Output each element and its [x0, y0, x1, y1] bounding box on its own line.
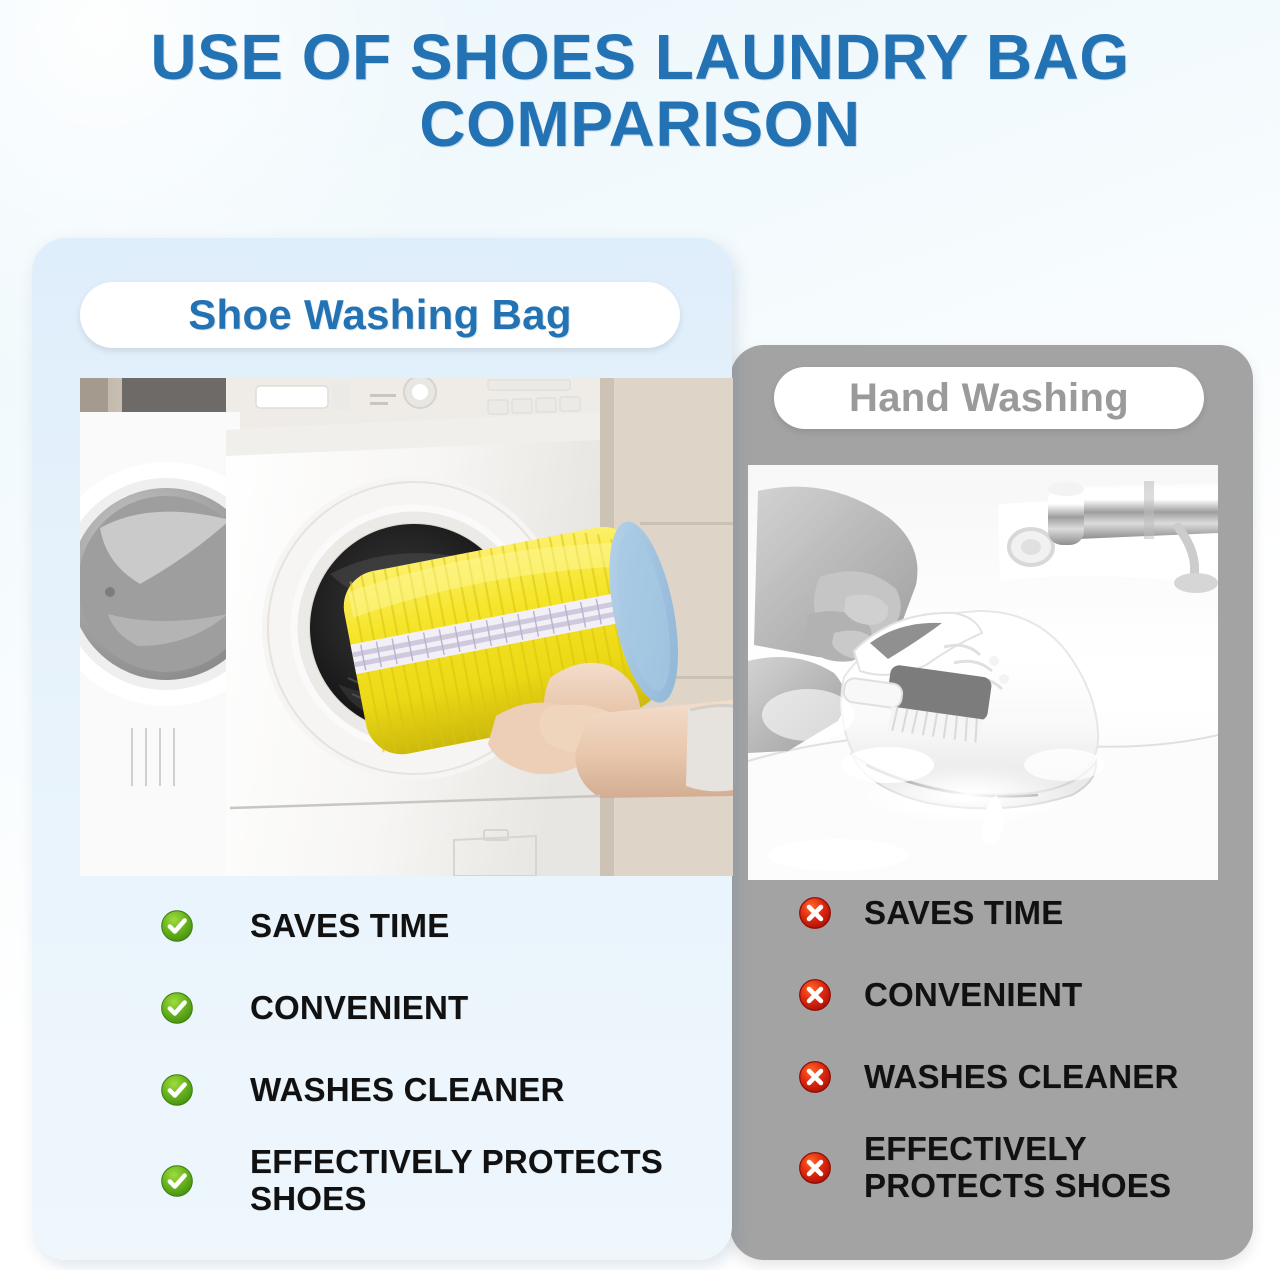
- panel-hand-washing: Hand Washing: [730, 345, 1253, 1260]
- list-item: CONVENIENT: [160, 980, 708, 1036]
- panel-title-shoe-washing-bag-label: Shoe Washing Bag: [188, 291, 572, 339]
- list-item-label: SAVES TIME: [250, 908, 449, 945]
- cross-icon: [798, 1060, 832, 1094]
- list-item: SAVES TIME: [798, 885, 1237, 941]
- page-title: USE OF SHOES LAUNDRY BAG COMPARISON: [0, 24, 1280, 158]
- list-item: WASHES CLEANER: [160, 1062, 708, 1118]
- infographic-canvas: USE OF SHOES LAUNDRY BAG COMPARISON: [0, 0, 1280, 1270]
- panel-title-shoe-washing-bag: Shoe Washing Bag: [80, 282, 680, 348]
- shoe-washing-bag-photo: [80, 378, 733, 876]
- cross-icon: [798, 896, 832, 930]
- check-icon: [160, 1073, 194, 1107]
- cross-icon: [798, 1151, 832, 1185]
- check-icon: [160, 1164, 194, 1198]
- list-item-label: CONVENIENT: [250, 990, 468, 1027]
- panel-title-hand-washing: Hand Washing: [774, 367, 1204, 429]
- list-item-label: EFFECTIVELY PROTECTS SHOES: [864, 1131, 1171, 1205]
- hand-washing-photo: [748, 465, 1218, 880]
- check-icon: [160, 991, 194, 1025]
- list-item-label: SAVES TIME: [864, 895, 1063, 932]
- list-item: EFFECTIVELY PROTECTS SHOES: [160, 1144, 708, 1218]
- list-item-label: WASHES CLEANER: [250, 1072, 565, 1109]
- list-item: WASHES CLEANER: [798, 1049, 1237, 1105]
- hand-washing-feature-list: SAVES TIME CONVENIENT WA: [730, 885, 1253, 1213]
- page-title-line-1: USE OF SHOES LAUNDRY BAG: [0, 24, 1280, 91]
- cross-icon: [798, 978, 832, 1012]
- panel-title-hand-washing-label: Hand Washing: [849, 376, 1129, 421]
- shoe-washing-bag-feature-list: SAVES TIME CONVENIENT WA: [32, 898, 732, 1226]
- page-title-line-2: COMPARISON: [0, 91, 1280, 158]
- list-item-label: WASHES CLEANER: [864, 1059, 1179, 1096]
- list-item-label: EFFECTIVELY PROTECTS SHOES: [250, 1144, 663, 1218]
- panel-shoe-washing-bag: Shoe Washing Bag: [32, 238, 732, 1260]
- list-item: EFFECTIVELY PROTECTS SHOES: [798, 1131, 1237, 1205]
- check-icon: [160, 909, 194, 943]
- list-item: SAVES TIME: [160, 898, 708, 954]
- list-item: CONVENIENT: [798, 967, 1237, 1023]
- list-item-label: CONVENIENT: [864, 977, 1082, 1014]
